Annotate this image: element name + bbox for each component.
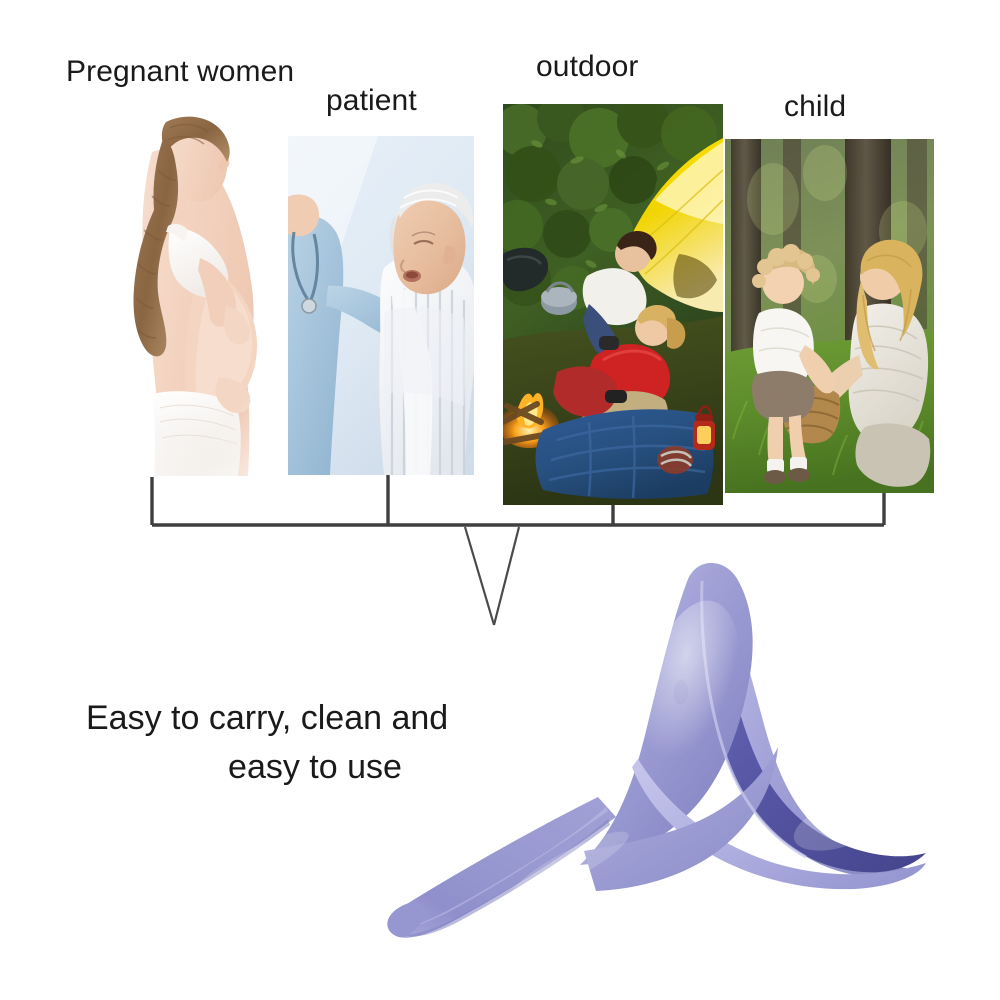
product-image-funnel bbox=[370, 545, 970, 975]
category-label-pregnant-women: Pregnant women bbox=[66, 57, 294, 87]
photo-child bbox=[725, 139, 934, 493]
photo-patient bbox=[288, 136, 474, 475]
infographic-canvas: Pregnant women patient outdoor child bbox=[0, 0, 1000, 1000]
category-label-child: child bbox=[784, 92, 846, 122]
outdoor-camping-illustration bbox=[503, 104, 723, 505]
product-inner-highlight bbox=[822, 791, 866, 803]
photo-pregnant-women bbox=[100, 92, 285, 476]
child-in-park-illustration bbox=[725, 139, 934, 493]
patient-illustration bbox=[288, 136, 474, 475]
pregnant-woman-illustration bbox=[100, 92, 285, 476]
category-label-outdoor: outdoor bbox=[536, 52, 638, 82]
photo-outdoor bbox=[503, 104, 723, 505]
category-label-patient: patient bbox=[326, 86, 417, 116]
